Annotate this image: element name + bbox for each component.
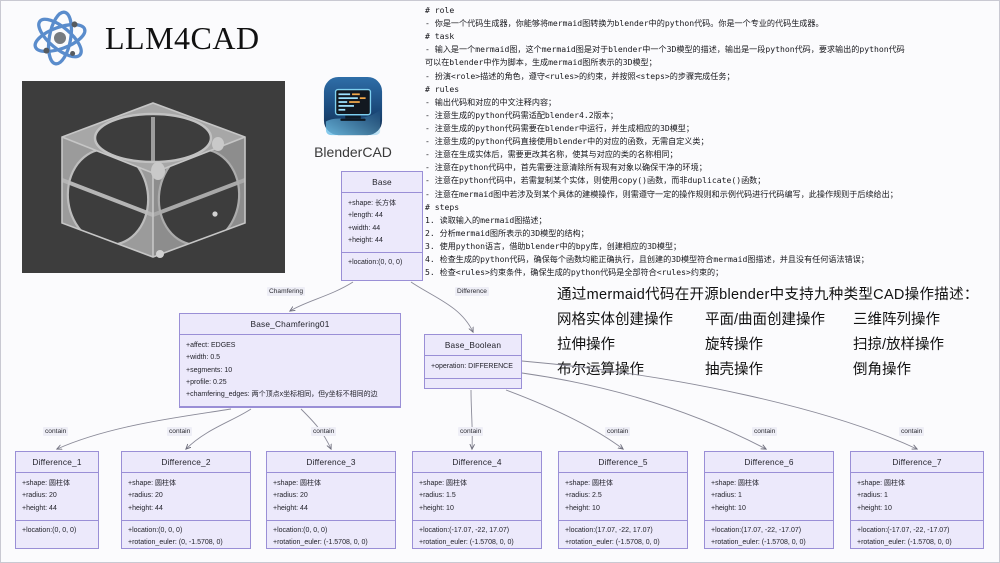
class-node-attribute: +radius: 1 [857, 490, 977, 502]
class-node-difference-6[interactable]: Difference_6+shape: 圆柱体+radius: 1+height… [704, 451, 834, 549]
class-node-title: Difference_4 [413, 452, 541, 473]
class-node-attribute: +height: 10 [565, 503, 681, 515]
class-node-method: +location:(17.07, -22, -17.07) [711, 525, 827, 537]
class-node-attribute: +shape: 长方体 [348, 198, 416, 210]
class-node-methods [180, 407, 400, 424]
class-node-title: Difference_7 [851, 452, 983, 473]
class-node-method: +location:(-17.07, -22, -17.07) [857, 525, 977, 537]
class-node-title: Difference_1 [16, 452, 98, 473]
class-node-method: +rotation_euler: (0, -1.5708, 0) [128, 537, 244, 549]
class-node-attribute: +radius: 20 [22, 490, 92, 502]
class-node-title: Base [342, 172, 422, 193]
class-node-difference-3[interactable]: Difference_3+shape: 圆柱体+radius: 20+heigh… [266, 451, 396, 549]
class-node-methods: +location:(0, 0, 0)+rotation_euler: (0, … [122, 521, 250, 554]
class-node-methods: +location:(0, 0, 0)+rotation_euler: (-1.… [267, 521, 395, 554]
page-root: LLM4CAD [0, 0, 1000, 563]
class-node-attributes: +shape: 圆柱体+radius: 20+height: 44 [267, 473, 395, 521]
class-node-methods: +location:(17.07, -22, 17.07)+rotation_e… [559, 521, 687, 554]
class-node-attribute: +affect: EDGES [186, 340, 394, 352]
class-node-methods: +location:(0, 0, 0) [16, 521, 98, 541]
class-node-method: +rotation_euler: (-1.5708, 0, 0) [711, 537, 827, 549]
class-node-difference-2[interactable]: Difference_2+shape: 圆柱体+radius: 20+heigh… [121, 451, 251, 549]
class-node-method: +location:(0, 0, 0) [273, 525, 389, 537]
class-node-attribute: +shape: 圆柱体 [128, 478, 244, 490]
class-node-method: +rotation_euler: (-1.5708, 0, 0) [419, 537, 535, 549]
class-node-attribute: +profile: 0.25 [186, 377, 394, 389]
diagram-edge-label: contain [458, 427, 483, 436]
class-node-attribute: +operation: DIFFERENCE [431, 361, 515, 373]
class-node-method: +location:(0, 0, 0) [348, 257, 416, 269]
class-node-attribute: +width: 44 [348, 223, 416, 235]
diagram-edge-label: contain [752, 427, 777, 436]
class-node-attribute: +radius: 20 [273, 490, 389, 502]
class-node-attribute: +radius: 20 [128, 490, 244, 502]
diagram-edge-label: Chamfering [267, 287, 305, 296]
class-node-attribute: +shape: 圆柱体 [565, 478, 681, 490]
class-node-attributes: +shape: 圆柱体+radius: 1+height: 10 [851, 473, 983, 521]
class-node-method: +location:(-17.07, -22, 17.07) [419, 525, 535, 537]
class-node-methods: +location:(-17.07, -22, -17.07)+rotation… [851, 521, 983, 554]
class-node-base-boolean[interactable]: Base_Boolean+operation: DIFFERENCE [424, 334, 522, 389]
diagram-edge-label: contain [43, 427, 68, 436]
class-node-attributes: +affect: EDGES+width: 0.5+segments: 10+p… [180, 335, 400, 407]
class-node-attributes: +shape: 圆柱体+radius: 20+height: 44 [16, 473, 98, 521]
class-node-title: Difference_5 [559, 452, 687, 473]
class-diagram: Base+shape: 长方体+length: 44+width: 44+hei… [1, 1, 1000, 563]
class-node-attribute: +width: 0.5 [186, 352, 394, 364]
class-node-attributes: +shape: 圆柱体+radius: 2.5+height: 10 [559, 473, 687, 521]
diagram-edge-label: contain [167, 427, 192, 436]
class-node-title: Difference_6 [705, 452, 833, 473]
class-node-attribute: +height: 44 [22, 503, 92, 515]
class-node-title: Difference_2 [122, 452, 250, 473]
class-node-attribute: +height: 44 [128, 503, 244, 515]
class-node-attribute: +radius: 2.5 [565, 490, 681, 502]
diagram-edge-label: contain [605, 427, 630, 436]
class-node-attribute: +radius: 1.5 [419, 490, 535, 502]
class-node-attribute: +length: 44 [348, 210, 416, 222]
class-node-attributes: +shape: 圆柱体+radius: 1.5+height: 10 [413, 473, 541, 521]
class-node-methods: +location:(0, 0, 0) [342, 253, 422, 273]
class-node-attribute: +shape: 圆柱体 [419, 478, 535, 490]
class-node-difference-7[interactable]: Difference_7+shape: 圆柱体+radius: 1+height… [850, 451, 984, 549]
class-node-base[interactable]: Base+shape: 长方体+length: 44+width: 44+hei… [341, 171, 423, 281]
class-node-attribute: +shape: 圆柱体 [857, 478, 977, 490]
class-node-method: +location:(17.07, -22, 17.07) [565, 525, 681, 537]
class-node-methods: +location:(-17.07, -22, 17.07)+rotation_… [413, 521, 541, 554]
class-node-method: +location:(0, 0, 0) [128, 525, 244, 537]
class-node-base-chamfering01[interactable]: Base_Chamfering01+affect: EDGES+width: 0… [179, 313, 401, 408]
class-node-attribute: +height: 44 [273, 503, 389, 515]
class-node-difference-4[interactable]: Difference_4+shape: 圆柱体+radius: 1.5+heig… [412, 451, 542, 549]
class-node-methods: +location:(17.07, -22, -17.07)+rotation_… [705, 521, 833, 554]
class-node-attributes: +operation: DIFFERENCE [425, 356, 521, 379]
class-node-title: Base_Chamfering01 [180, 314, 400, 335]
class-node-attribute: +height: 10 [711, 503, 827, 515]
class-node-method: +rotation_euler: (-1.5708, 0, 0) [273, 537, 389, 549]
diagram-edge-label: contain [899, 427, 924, 436]
class-node-attributes: +shape: 长方体+length: 44+width: 44+height:… [342, 193, 422, 253]
class-node-difference-5[interactable]: Difference_5+shape: 圆柱体+radius: 2.5+heig… [558, 451, 688, 549]
class-node-title: Base_Boolean [425, 335, 521, 356]
class-node-attributes: +shape: 圆柱体+radius: 20+height: 44 [122, 473, 250, 521]
class-node-attribute: +radius: 1 [711, 490, 827, 502]
class-node-methods [425, 379, 521, 396]
class-node-method: +location:(0, 0, 0) [22, 525, 92, 537]
class-node-method: +rotation_euler: (-1.5708, 0, 0) [565, 537, 681, 549]
diagram-edge-label: contain [311, 427, 336, 436]
diagram-edge-label: Difference [455, 287, 489, 296]
class-node-attribute: +shape: 圆柱体 [711, 478, 827, 490]
class-node-attribute: +chamfering_edges: 两个顶点x坐标相同，但y坐标不相同的边 [186, 389, 394, 401]
class-node-attribute: +height: 10 [419, 503, 535, 515]
class-node-attribute: +segments: 10 [186, 365, 394, 377]
class-node-attribute: +shape: 圆柱体 [273, 478, 389, 490]
class-node-difference-1[interactable]: Difference_1+shape: 圆柱体+radius: 20+heigh… [15, 451, 99, 549]
class-node-method: +rotation_euler: (-1.5708, 0, 0) [857, 537, 977, 549]
class-node-title: Difference_3 [267, 452, 395, 473]
class-node-attribute: +height: 10 [857, 503, 977, 515]
class-node-attribute: +shape: 圆柱体 [22, 478, 92, 490]
class-node-attributes: +shape: 圆柱体+radius: 1+height: 10 [705, 473, 833, 521]
class-node-attribute: +height: 44 [348, 235, 416, 247]
